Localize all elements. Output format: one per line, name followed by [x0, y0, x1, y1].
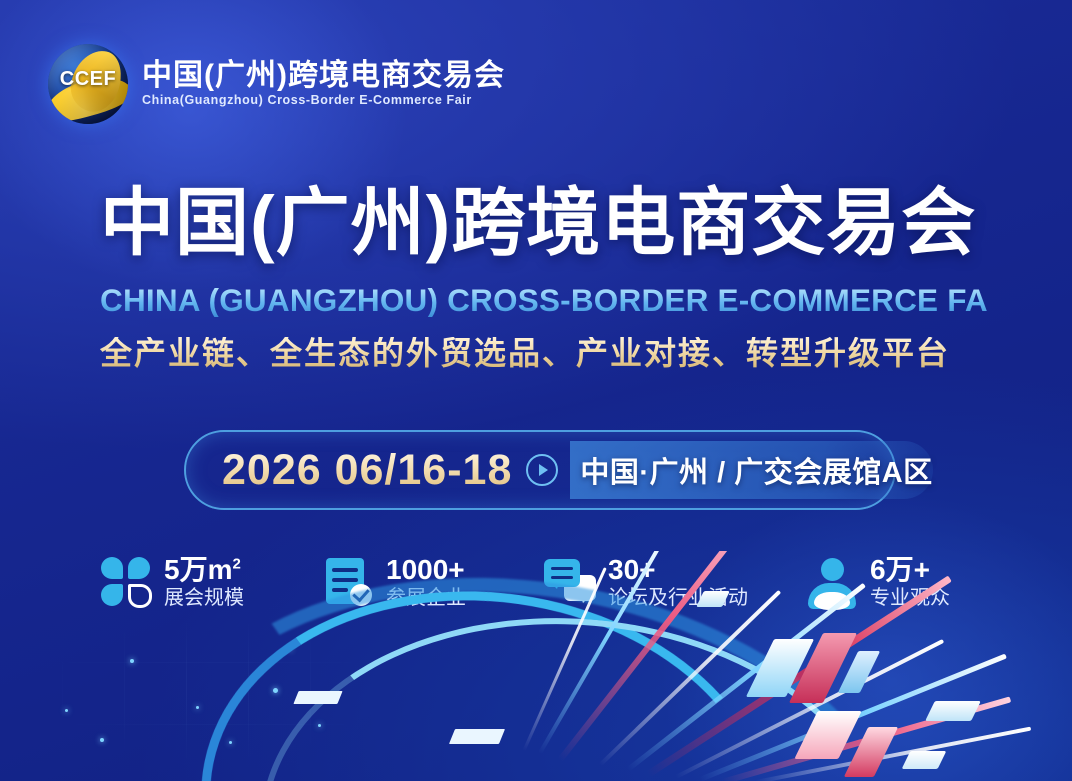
- light-block: [902, 751, 947, 769]
- decorative-arc: [242, 592, 910, 781]
- light-block: [794, 711, 861, 759]
- light-streak: [626, 583, 865, 772]
- header-logo-block: CCEF 中国(广州)跨境电商交易会 China(Guangzhou) Cros…: [48, 44, 505, 124]
- stat-value: 1000+: [386, 556, 466, 584]
- stat-item: 30+ 论坛及行业活动: [544, 556, 806, 608]
- stat-value: 5万m2: [164, 556, 244, 584]
- particle-dot: [196, 706, 199, 709]
- stat-text: 6万+ 专业观众: [870, 556, 950, 608]
- light-streak: [721, 696, 1011, 781]
- stat-label: 展会规模: [164, 588, 244, 608]
- particle-dot: [229, 741, 232, 744]
- arc-highlight-chip: [293, 691, 342, 704]
- event-location: 中国·广州 / 广交会展馆A区: [580, 449, 932, 491]
- document-check-icon: [322, 556, 374, 608]
- stat-value-unit: 2: [232, 556, 240, 573]
- stat-item: 5万m2 展会规模: [100, 556, 322, 608]
- particle-dot: [273, 688, 278, 693]
- light-streak: [675, 639, 944, 779]
- stat-label: 专业观众: [870, 588, 950, 608]
- stat-item: 1000+ 参展企业: [322, 556, 544, 608]
- light-block: [789, 633, 857, 703]
- logo-title-en: China(Guangzhou) Cross-Border E-Commerce…: [142, 94, 505, 107]
- particle-dot: [100, 738, 104, 742]
- clover-icon: [100, 556, 152, 608]
- logo-title-cn: 中国(广州)跨境电商交易会: [142, 61, 505, 91]
- arc-highlight-chip: [449, 729, 505, 744]
- ccef-globe-icon: CCEF: [48, 44, 128, 124]
- chat-bubbles-icon: [544, 556, 596, 608]
- particle-dot: [318, 724, 321, 727]
- logo-abbreviation: CCEF: [48, 68, 128, 91]
- particle-dot: [289, 648, 292, 651]
- stat-value: 30+: [608, 556, 748, 584]
- stat-value-text: 5万m: [164, 554, 232, 585]
- hero-title-en: CHINA (GUANGZHOU) CROSS-BORDER E-COMMERC…: [100, 285, 990, 317]
- stat-label: 参展企业: [386, 588, 466, 608]
- location-pill: 中国·广州 / 广交会展馆A区: [570, 441, 932, 499]
- light-block: [925, 701, 981, 721]
- faint-grid-pattern: [0, 600, 420, 781]
- stat-label: 论坛及行业活动: [608, 588, 748, 608]
- stat-value: 6万+: [870, 556, 950, 584]
- light-streak: [699, 654, 1007, 781]
- particle-dot: [130, 659, 134, 663]
- logo-wordmark: 中国(广州)跨境电商交易会 China(Guangzhou) Cross-Bor…: [142, 61, 505, 107]
- stats-row: 5万m2 展会规模 1000+ 参展企业 30+ 论坛及: [100, 556, 1000, 608]
- hero-title-cn: 中国(广州)跨境电商交易会: [100, 186, 990, 260]
- stat-text: 30+ 论坛及行业活动: [608, 556, 748, 608]
- stat-text: 1000+ 参展企业: [386, 556, 466, 608]
- event-date: 2026 06/16-18: [222, 449, 512, 492]
- particle-dot: [65, 709, 68, 712]
- light-streak: [599, 590, 782, 767]
- stat-item: 6万+ 专业观众: [806, 556, 950, 608]
- play-circle-icon: [526, 454, 558, 486]
- light-block: [838, 651, 880, 693]
- stat-text: 5万m2 展会规模: [164, 556, 244, 608]
- hero-tagline: 全产业链、全生态的外贸选品、产业对接、转型升级平台: [100, 337, 990, 369]
- light-block: [746, 639, 814, 697]
- poster-canvas: CCEF 中国(广州)跨境电商交易会 China(Guangzhou) Cros…: [0, 0, 1072, 781]
- light-block: [844, 727, 898, 777]
- date-location-bar: 2026 06/16-18 中国·广州 / 广交会展馆A区: [184, 430, 896, 510]
- person-icon: [806, 556, 858, 608]
- light-streak: [756, 727, 1032, 781]
